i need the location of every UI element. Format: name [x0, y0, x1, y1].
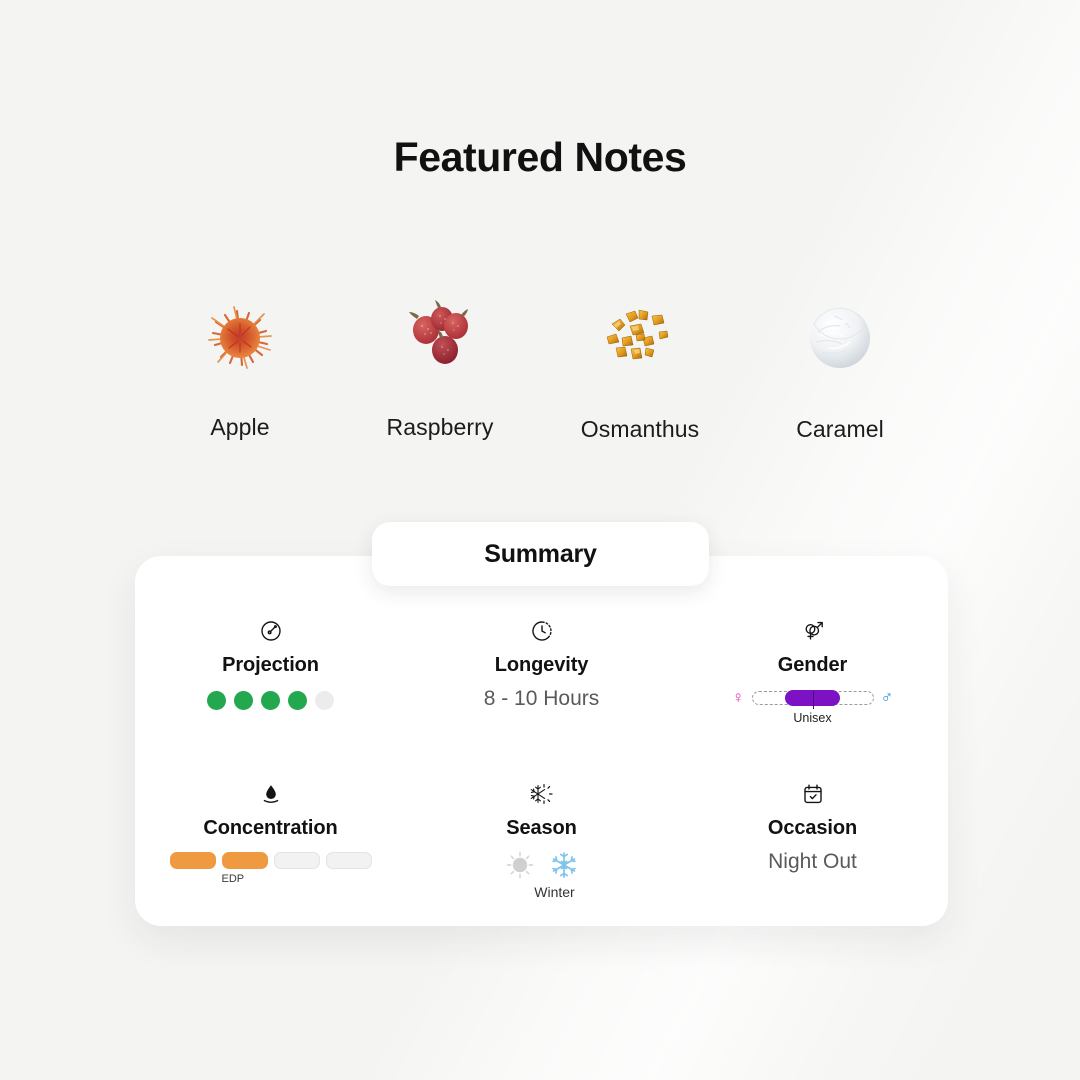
cell-title: Occasion: [768, 817, 857, 840]
gauge-icon: [259, 616, 283, 646]
clock-icon: [530, 616, 554, 646]
projection-meter[interactable]: [207, 691, 334, 710]
meter-bar: [326, 852, 372, 869]
cell-title: Longevity: [495, 654, 589, 677]
season-options: [505, 850, 579, 880]
note-label: Apple: [210, 414, 269, 441]
concentration-meter[interactable]: EDP: [170, 852, 372, 885]
snowflake-icon[interactable]: [549, 850, 579, 880]
gender-slider-row: ♀ ♂: [732, 689, 894, 706]
featured-notes-row: Apple: [150, 288, 930, 443]
summary-cell-occasion: Occasion Night Out: [677, 763, 948, 926]
note-label: Raspberry: [387, 414, 494, 441]
summary-cell-gender: Gender ♀ ♂ Unisex: [677, 600, 948, 763]
cell-title: Gender: [778, 654, 847, 677]
meter-bar: [170, 852, 216, 869]
season-value: Winter: [534, 884, 574, 900]
meter-bar: [222, 852, 268, 869]
calendar-check-icon: [801, 779, 825, 809]
note-label: Osmanthus: [581, 416, 700, 443]
meter-dot: [261, 691, 280, 710]
gender-slider-track[interactable]: [752, 691, 874, 705]
cell-title: Concentration: [203, 817, 337, 840]
gender-symbols-icon: [800, 616, 826, 646]
female-symbol-icon: ♀: [732, 689, 745, 706]
page-root: Featured Notes: [0, 0, 1080, 1080]
amber-crystals-image: [590, 288, 690, 388]
meter-bar: [274, 852, 320, 869]
season-selector[interactable]: Winter: [505, 850, 579, 900]
note-label: Caramel: [796, 416, 884, 443]
summary-grid: Projection Longevity 8 - 10 Hours: [135, 600, 948, 926]
longevity-value: 8 - 10 Hours: [484, 687, 600, 711]
summary-pill-label: Summary: [484, 540, 597, 569]
white-powder-ball-image: [790, 288, 890, 388]
occasion-value: Night Out: [768, 850, 857, 874]
summary-pill: Summary: [372, 522, 709, 586]
concentration-value: EDP: [222, 873, 245, 885]
gender-value: Unisex: [793, 711, 831, 725]
note-item-osmanthus[interactable]: Osmanthus: [550, 288, 730, 443]
male-symbol-icon: ♂: [881, 689, 894, 706]
sun-icon[interactable]: [505, 850, 535, 880]
sun-snowflake-icon: [529, 779, 555, 809]
cell-title: Season: [506, 817, 577, 840]
note-item-raspberry[interactable]: Raspberry: [350, 288, 530, 441]
summary-cell-projection: Projection: [135, 600, 406, 763]
note-item-caramel[interactable]: Caramel: [750, 288, 930, 443]
droplet-icon: [259, 779, 283, 809]
concentration-bars: [170, 852, 372, 869]
meter-dot: [288, 691, 307, 710]
meter-dot: [207, 691, 226, 710]
gender-slider[interactable]: ♀ ♂ Unisex: [732, 689, 894, 725]
summary-cell-concentration: Concentration EDP: [135, 763, 406, 926]
saffron-threads-image: [190, 288, 290, 388]
meter-dot: [315, 691, 334, 710]
page-title: Featured Notes: [0, 134, 1080, 181]
cell-title: Projection: [222, 654, 319, 677]
summary-cell-longevity: Longevity 8 - 10 Hours: [406, 600, 677, 763]
meter-dot: [234, 691, 253, 710]
note-item-apple[interactable]: Apple: [150, 288, 330, 441]
gender-slider-knob[interactable]: [813, 691, 814, 709]
raspberry-berries-image: [390, 288, 490, 388]
summary-cell-season: Season: [406, 763, 677, 926]
